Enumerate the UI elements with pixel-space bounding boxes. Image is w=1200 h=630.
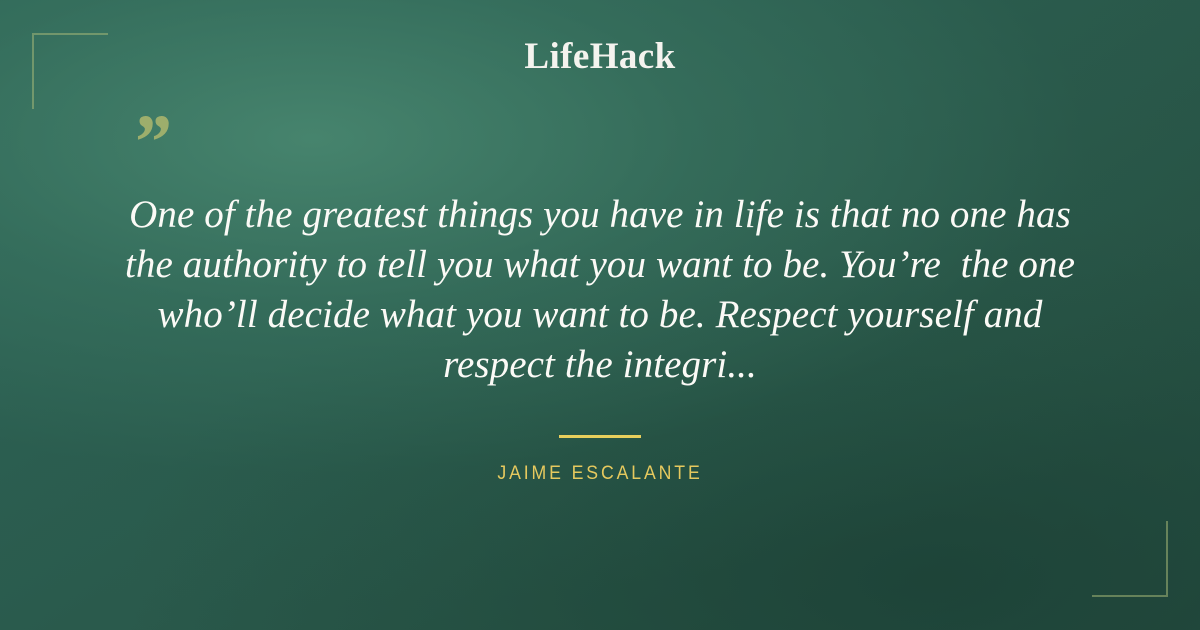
quote-line: who’ll decide what you want to be. Respe… xyxy=(80,290,1120,340)
corner-bracket-bottom-right-icon xyxy=(1092,521,1168,597)
brand-logo: LifeHack xyxy=(0,38,1200,75)
divider-rule xyxy=(559,435,641,438)
quote-line: One of the greatest things you have in l… xyxy=(80,190,1120,240)
quotation-mark-icon: ” xyxy=(131,103,168,181)
quote-card: LifeHack ” One of the greatest things yo… xyxy=(0,0,1200,630)
quote-line: respect the integri... xyxy=(80,340,1120,390)
quote-author: JAIME ESCALANTE xyxy=(42,463,1158,485)
quote-line: the authority to tell you what you want … xyxy=(80,240,1120,290)
quote-text: One of the greatest things you have in l… xyxy=(80,190,1120,390)
